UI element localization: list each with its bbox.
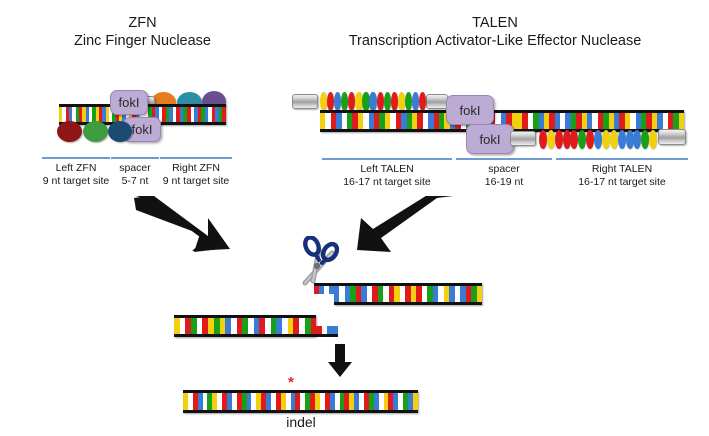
zfn-segment-right-sublabel: 9 nt target site [160, 175, 232, 188]
talen-segment-right-sublabel: 16-17 nt target site [556, 176, 688, 189]
arrow-to-indel [327, 344, 353, 378]
zfn-title: ZFN [30, 14, 255, 32]
talen-title-block: TALEN Transcription Activator-Like Effec… [285, 14, 705, 50]
base-pair [222, 107, 226, 122]
repaired-dna [183, 390, 418, 413]
cleaved-fragment-right [314, 283, 482, 309]
talen-repeat-module [563, 130, 571, 149]
zfn-segment-spacer-label: spacer [111, 162, 159, 175]
talen-title: TALEN [285, 14, 705, 32]
talen-repeat-module [602, 130, 610, 149]
zfn-title-block: ZFN Zinc Finger Nuclease [30, 14, 255, 50]
talen-repeat-module [610, 130, 618, 149]
talen-repeat-module [405, 92, 412, 111]
zfn-finger-bottom-1 [57, 121, 82, 142]
fragment-left-overhang [316, 326, 338, 337]
talen-segment-spacer-bar [456, 158, 552, 160]
talen-left-tube-start [292, 94, 318, 109]
talen-repeat-module [398, 92, 405, 111]
talen-repeat-module [412, 92, 419, 111]
zfn-segment-left-bar [42, 157, 110, 159]
talen-repeat-module [369, 92, 376, 111]
fragment-right-overhang [314, 283, 334, 294]
talen-repeat-module [641, 130, 649, 149]
talen-fokI-top: fokI [446, 95, 494, 125]
talen-segment-left: Left TALEN 16-17 nt target site [322, 158, 452, 189]
fragment-right-duplex [334, 283, 482, 305]
zfn-segment-left-sublabel: 9 nt target site [42, 175, 110, 188]
talen-right-tube-end [658, 129, 686, 145]
base-pair [333, 326, 339, 334]
arrow-from-talen [355, 196, 455, 256]
zfn-segment-right: Right ZFN 9 nt target site [160, 157, 232, 188]
talen-repeat-module [633, 130, 641, 149]
zfn-segment-right-bar [160, 157, 232, 159]
talen-segment-right-bar [556, 158, 688, 160]
talen-repeat-module [594, 130, 602, 149]
zfn-segment-left-label: Left ZFN [42, 162, 110, 175]
zfn-segment-spacer-bar [111, 157, 159, 159]
zfn-segment-left: Left ZFN 9 nt target site [42, 157, 110, 188]
talen-repeat-module [649, 130, 657, 149]
talen-repeat-module [578, 130, 586, 149]
talen-fokI-bottom: fokI [466, 124, 514, 154]
talen-segment-spacer: spacer 16-19 nt [456, 158, 552, 189]
talen-repeat-module [384, 92, 391, 111]
zfn-segment-spacer-sublabel: 5-7 nt [111, 175, 159, 188]
talen-repeat-module [419, 92, 426, 111]
talen-left-tube-end [426, 94, 448, 109]
cleaved-fragment-left [174, 315, 340, 341]
zfn-fokI-top: fokI [110, 90, 148, 115]
talen-segment-spacer-sublabel: 16-19 nt [456, 176, 552, 189]
talen-repeat-module [586, 130, 594, 149]
base-pair [477, 286, 482, 302]
zfn-finger-bottom-2 [83, 121, 108, 142]
talen-segment-left-bar [322, 158, 452, 160]
talen-repeat-module [539, 130, 547, 149]
talen-segment-spacer-label: spacer [456, 163, 552, 176]
talen-repeat-module [547, 130, 555, 149]
talen-subtitle: Transcription Activator-Like Effector Nu… [285, 32, 705, 50]
talen-repeat-module [618, 130, 626, 149]
talen-repeat-module [377, 92, 384, 111]
talen-right-repeat-array [539, 130, 657, 149]
indel-label: indel [236, 414, 366, 430]
talen-segment-left-label: Left TALEN [322, 163, 452, 176]
zfn-segment-right-label: Right ZFN [160, 162, 232, 175]
zfn-segment-spacer: spacer 5-7 nt [111, 157, 159, 188]
zfn-finger-bottom-3 [108, 121, 132, 142]
mutation-asterisk: * [288, 375, 294, 390]
fragment-left-duplex [174, 315, 316, 337]
talen-segment-left-sublabel: 16-17 nt target site [322, 176, 452, 189]
arrow-from-zfn [134, 196, 234, 256]
talen-repeat-module [555, 130, 563, 149]
talen-right-tube-start [510, 131, 536, 146]
talen-left-repeat-array [320, 92, 426, 111]
zfn-subtitle: Zinc Finger Nuclease [30, 32, 255, 50]
base-pair [679, 113, 684, 129]
talen-repeat-module [391, 92, 398, 111]
talen-segment-right-label: Right TALEN [556, 163, 688, 176]
talen-repeat-module [570, 130, 578, 149]
talen-dna-lower [490, 110, 684, 132]
talen-segment-right: Right TALEN 16-17 nt target site [556, 158, 688, 189]
talen-repeat-module [626, 130, 634, 149]
diagram-canvas: ZFN Zinc Finger Nuclease TALEN Transcrip… [0, 0, 709, 436]
base-pair [413, 393, 418, 410]
